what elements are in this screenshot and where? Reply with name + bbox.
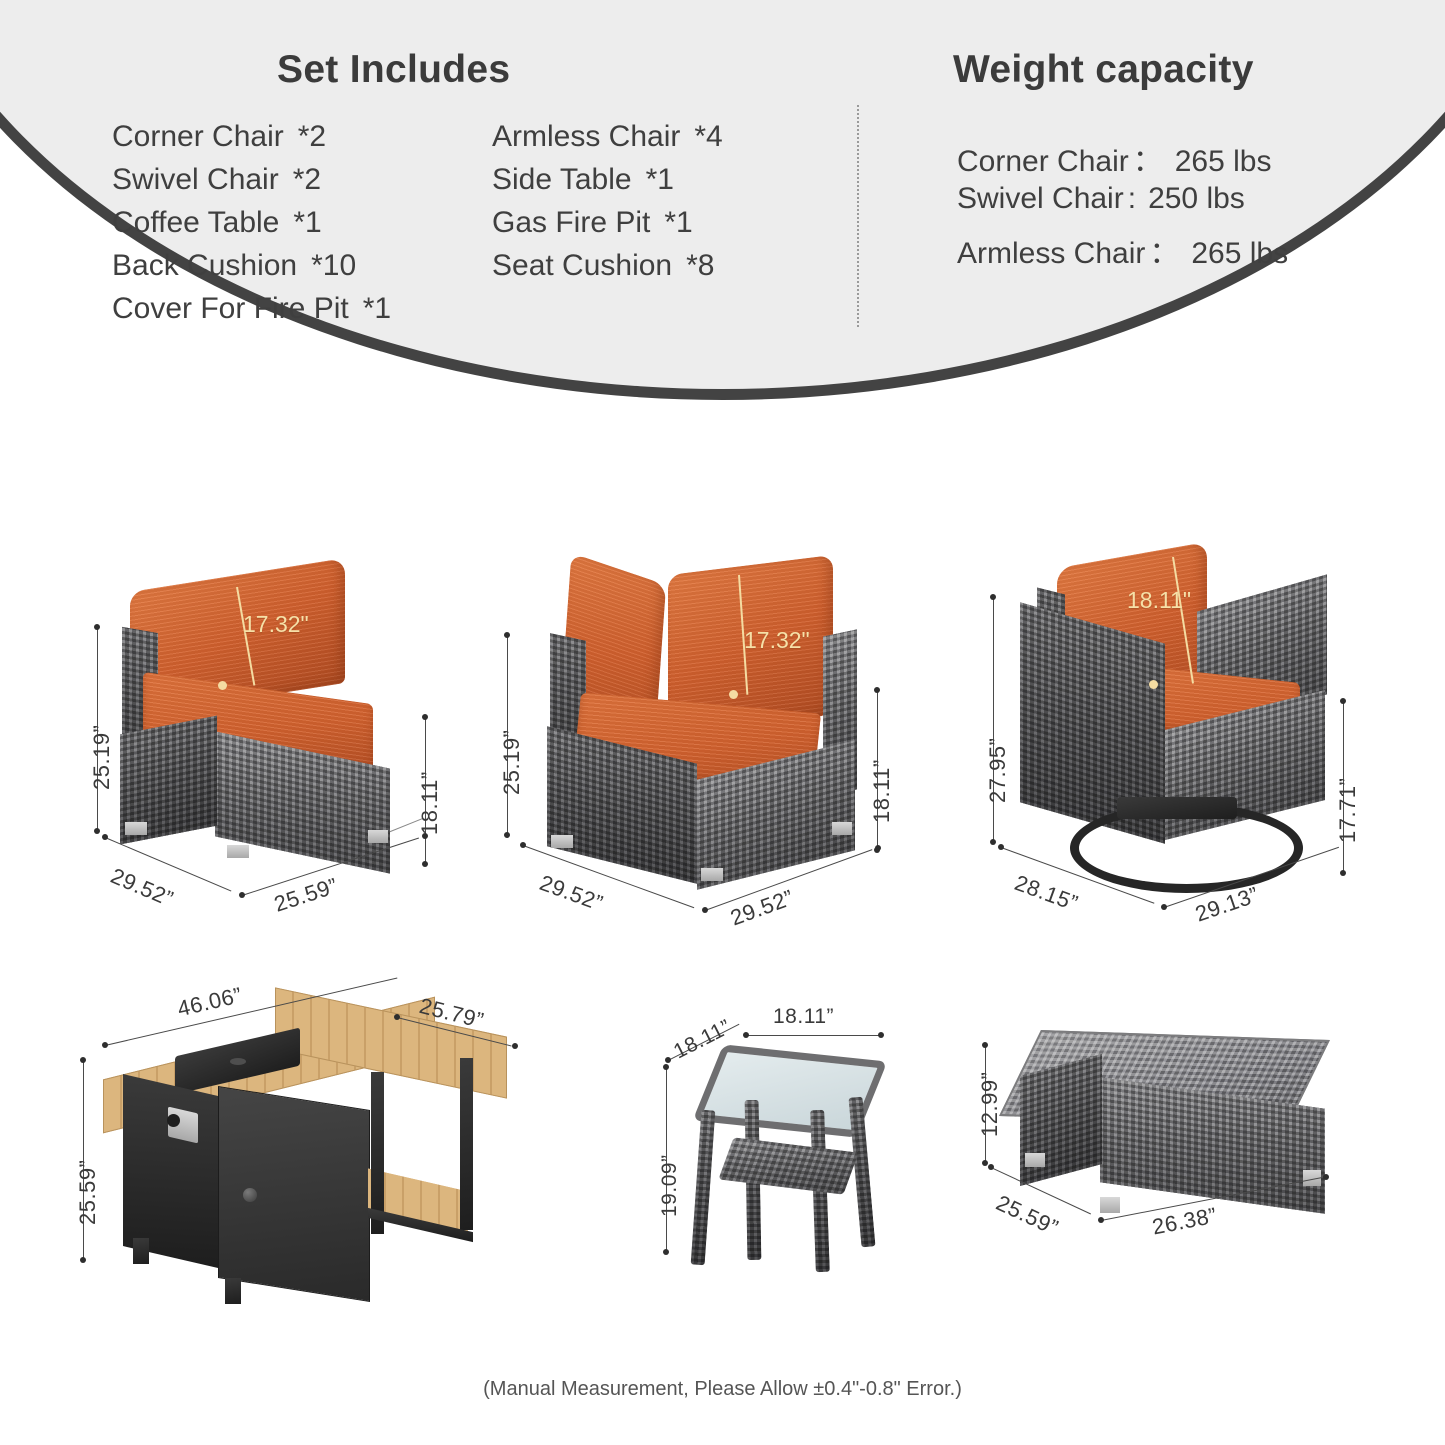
product-coffee-table: 12.99” 25.59” 26.38” (965, 1015, 1385, 1295)
armless-seat-height-dot (422, 861, 428, 867)
set-item: Corner Chair *2 (112, 120, 391, 163)
side-table-width-dot (878, 1032, 884, 1038)
weight-capacity-row: Armless Chair ： 265 lbs (957, 228, 1288, 274)
fire-pit-length-dot (102, 1042, 108, 1048)
armless-depth-label: 29.52” (107, 863, 177, 912)
corner-seat-height-label: 18.11” (869, 759, 895, 823)
swivel-seat-height-dot (1340, 870, 1346, 876)
set-item: Seat Cushion *8 (492, 249, 723, 292)
fire-pit-burner-hole (230, 1058, 246, 1065)
set-item-name: Swivel Chair (112, 163, 279, 197)
set-item-name: Armless Chair (492, 120, 680, 154)
set-includes-right-column: Armless Chair *4 Side Table *1 Gas Fire … (492, 120, 723, 292)
swivel-mount (1117, 797, 1237, 819)
weight-capacity-list: Corner Chair ： 265 lbs Swivel Chair : 25… (957, 136, 1288, 274)
weight-capacity-title: Weight capacity (953, 48, 1254, 92)
corner-foot (832, 822, 852, 835)
swivel-seat-height-dot (1340, 698, 1346, 704)
armless-width-label: 25.59” (271, 873, 341, 918)
vertical-dotted-divider (857, 105, 859, 327)
set-includes-title: Set Includes (277, 48, 510, 92)
product-gas-fire-pit: 46.06” 25.79” 25.59” (75, 990, 545, 1340)
set-includes-left-column: Corner Chair *2 Swivel Chair *2 Coffee T… (112, 120, 391, 335)
armless-cushion-arrow-head (218, 681, 227, 690)
swivel-height-label: 27.95” (985, 738, 1011, 803)
banner-content: Set Includes Weight capacity Corner Chai… (0, 0, 1445, 340)
fire-pit-door-knob[interactable] (243, 1188, 257, 1202)
swivel-width-dot (1161, 904, 1167, 910)
set-item-qty: *8 (686, 249, 714, 283)
set-item-name: Coffee Table (112, 206, 279, 240)
corner-seat-height-dot (874, 687, 880, 693)
swivel-cushion-dimension: 18.11" (1127, 587, 1191, 614)
set-item-qty: *2 (293, 163, 321, 197)
product-swivel-chair: 18.11" 27.95” 17.71” 28.15” 29.13” (965, 525, 1365, 945)
set-item: Cover For Fire Pit *1 (112, 292, 391, 335)
coffee-table-height-label: 12.99” (977, 1072, 1003, 1137)
set-item-qty: *1 (293, 206, 321, 240)
fire-pit-foot (133, 1238, 149, 1264)
corner-width-dot (875, 845, 881, 851)
side-table-height-dot (663, 1249, 669, 1255)
coffee-table-width-dot (1098, 1217, 1104, 1223)
coffee-table-width-dot (1323, 1174, 1329, 1180)
swivel-height-line (993, 597, 994, 842)
armless-width-dot (239, 892, 245, 898)
fire-pit-control-knob[interactable] (167, 1114, 180, 1127)
coffee-table-depth-label: 25.59” (992, 1190, 1062, 1241)
armless-height-dot (94, 828, 100, 834)
weight-capacity-label: Swivel Chair (957, 182, 1124, 216)
product-armless-chair: 17.32" 25.19” 18.11” 29.52” 25.59” (95, 545, 455, 945)
set-item-name: Back Cushion (112, 249, 297, 283)
corner-cushion-dimension: 17.32" (744, 627, 810, 654)
fire-pit-leg (460, 1058, 473, 1230)
swivel-depth-dot (998, 844, 1004, 850)
set-item-qty: *2 (298, 120, 326, 154)
armless-foot (368, 830, 388, 843)
armless-foot (125, 822, 147, 835)
set-item-qty: *1 (646, 163, 674, 197)
side-table-depth-dot (665, 1057, 671, 1063)
side-table-width-label: 18.11” (773, 1005, 834, 1029)
weight-capacity-label: Armless Chair (957, 237, 1145, 271)
swivel-height-dot (990, 594, 996, 600)
side-table-leg (848, 1097, 875, 1248)
weight-capacity-value: 265 lbs (1175, 145, 1272, 179)
set-item: Coffee Table *1 (112, 206, 391, 249)
swivel-depth-label: 28.15” (1011, 870, 1081, 917)
fire-pit-height-dot (80, 1057, 86, 1063)
weight-capacity-separator: : (1128, 182, 1136, 216)
corner-width-label: 29.52” (727, 885, 797, 932)
weight-capacity-value: 250 lbs (1148, 182, 1245, 216)
swivel-seat-height-label: 17.71” (1335, 778, 1361, 843)
corner-depth-dot (520, 842, 526, 848)
coffee-table-height-dot (982, 1042, 988, 1048)
set-item: Armless Chair *4 (492, 120, 723, 163)
armless-foot (227, 845, 249, 858)
swivel-cushion-arrow-head (1149, 680, 1158, 689)
armless-height-dot (94, 624, 100, 630)
fire-pit-foot (225, 1278, 241, 1304)
corner-foot (551, 835, 573, 848)
product-spec-page: Set Includes Weight capacity Corner Chai… (0, 0, 1445, 1445)
side-table-lower-shelf (718, 1137, 858, 1194)
set-item-name: Side Table (492, 163, 632, 197)
side-table-width-line (746, 1035, 881, 1036)
set-item: Gas Fire Pit *1 (492, 206, 723, 249)
product-corner-chair: 17.32" 25.19” 18.11” 29.52” 29.52” (505, 545, 905, 945)
armless-depth-dot (102, 834, 108, 840)
fire-pit-cabinet-door[interactable] (218, 1086, 370, 1302)
set-item-qty: *10 (311, 249, 356, 283)
weight-capacity-row: Swivel Chair : 250 lbs (957, 182, 1288, 228)
side-table-width-dot (743, 1032, 749, 1038)
set-item: Swivel Chair *2 (112, 163, 391, 206)
weight-capacity-label: Corner Chair (957, 145, 1129, 179)
set-item-qty: *1 (664, 206, 692, 240)
corner-height-label: 25.19” (499, 730, 525, 795)
swivel-height-dot (990, 839, 996, 845)
coffee-table-foot (1100, 1197, 1120, 1213)
set-item-qty: *1 (363, 292, 391, 326)
fire-pit-height-dot (80, 1257, 86, 1263)
corner-cushion-arrow-head (729, 690, 738, 699)
corner-height-dot (504, 632, 510, 638)
weight-capacity-value: 265 lbs (1191, 237, 1288, 271)
fire-pit-depth-dot (394, 1014, 400, 1020)
set-item-name: Cover For Fire Pit (112, 292, 349, 326)
weight-capacity-separator: ： (1133, 136, 1163, 180)
armless-seat-height-dot (422, 714, 428, 720)
armless-cushion-dimension: 17.32" (243, 611, 309, 638)
side-table-height-label: 19.09” (658, 1154, 682, 1217)
weight-capacity-separator: ： (1149, 228, 1179, 272)
armless-width-dot (422, 833, 428, 839)
set-item: Side Table *1 (492, 163, 723, 206)
set-item: Back Cushion *10 (112, 249, 391, 292)
product-side-table: 18.11” 18.11” 19.09” (640, 1005, 940, 1315)
weight-capacity-row: Corner Chair ： 265 lbs (957, 136, 1288, 182)
coffee-table-depth-dot (988, 1164, 994, 1170)
side-table-height-dot (663, 1064, 669, 1070)
corner-height-dot (504, 832, 510, 838)
corner-foot (701, 868, 723, 881)
armless-height-label: 25.19” (89, 725, 115, 790)
set-item-name: Gas Fire Pit (492, 206, 650, 240)
armless-seat-height-label: 18.11” (417, 771, 443, 835)
set-item-name: Seat Cushion (492, 249, 672, 283)
coffee-table-foot (1025, 1153, 1045, 1167)
set-item-qty: *4 (694, 120, 722, 154)
side-table-leg (691, 1110, 716, 1266)
corner-depth-label: 29.52” (536, 870, 606, 917)
fire-pit-height-label: 25.59” (75, 1160, 101, 1225)
set-item-name: Corner Chair (112, 120, 284, 154)
measurement-disclaimer: (Manual Measurement, Please Allow ±0.4"-… (0, 1378, 1445, 1401)
fire-pit-depth-dot (512, 1043, 518, 1049)
corner-width-dot (702, 907, 708, 913)
coffee-table-height-dot (982, 1160, 988, 1166)
